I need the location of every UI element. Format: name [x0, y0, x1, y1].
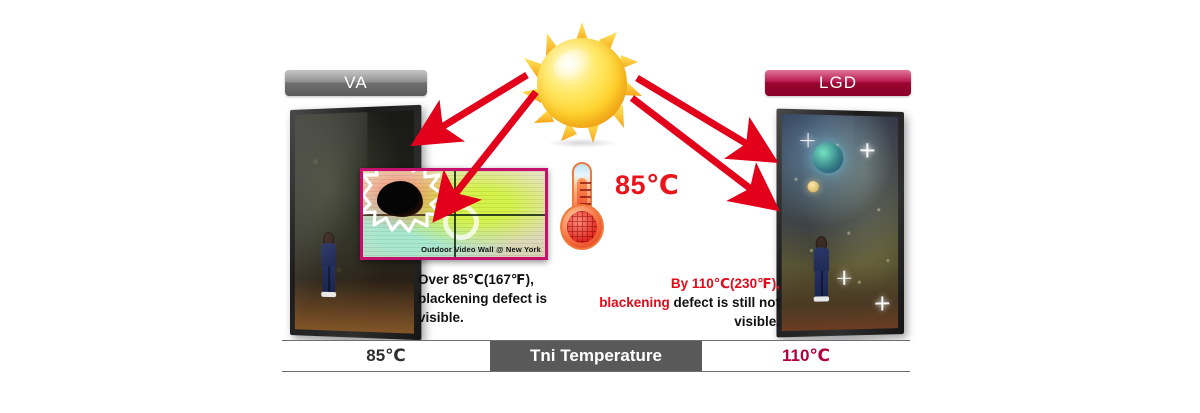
caption-va: Over 85℃(167℉), blackening defect is vis… — [418, 270, 598, 327]
blackening-defect-blob — [377, 181, 423, 217]
tni-value-lgd: 110℃ — [702, 341, 910, 371]
temperature-label: 85℃ — [615, 170, 679, 201]
tv-panel-lgd — [776, 109, 904, 338]
tni-bar-title: Tni Temperature — [490, 341, 702, 371]
caption-va-line-2: blackening defect is — [418, 289, 598, 308]
tni-value-va: 85℃ — [282, 341, 490, 371]
badge-va: VA — [285, 70, 427, 96]
caption-va-line-1: Over 85℃(167℉), — [418, 270, 598, 289]
screen-glass-reflection — [782, 114, 855, 331]
tv-screen-lgd — [782, 114, 898, 331]
video-wall-caption: Outdoor Video Wall @ New York — [363, 245, 541, 254]
badge-va-label: VA — [344, 73, 367, 93]
sun-icon — [521, 22, 643, 144]
caption-lgd-line-2: blackening defect is still not — [575, 293, 780, 312]
arrow-sun-to-lgd-1 — [637, 78, 757, 150]
video-wall-content: Outdoor Video Wall @ New York — [363, 171, 545, 257]
tni-temperature-bar: 85℃ Tni Temperature 110℃ — [282, 340, 910, 372]
caption-lgd-line-1: By 110℃(230℉), — [575, 274, 780, 293]
caption-va-line-3: visible. — [418, 308, 598, 327]
thermometer-bulb-inner — [567, 211, 597, 243]
arrow-sun-to-va-1 — [432, 75, 527, 133]
screen-glass-reflection — [295, 112, 368, 332]
badge-lgd-label: LGD — [819, 73, 857, 93]
badge-lgd: LGD — [765, 70, 911, 96]
caption-lgd-line-3: visible. — [575, 312, 780, 331]
caption-lgd-rest: defect is still not — [670, 295, 780, 310]
sun-shadow — [547, 138, 617, 148]
video-wall-inset: Outdoor Video Wall @ New York — [360, 168, 548, 260]
thermometer-icon — [556, 162, 608, 254]
comparison-infographic: VA Outd — [0, 0, 1200, 413]
caption-lgd: By 110℃(230℉), blackening defect is stil… — [575, 274, 780, 331]
caption-lgd-blackening: blackening — [599, 295, 670, 310]
